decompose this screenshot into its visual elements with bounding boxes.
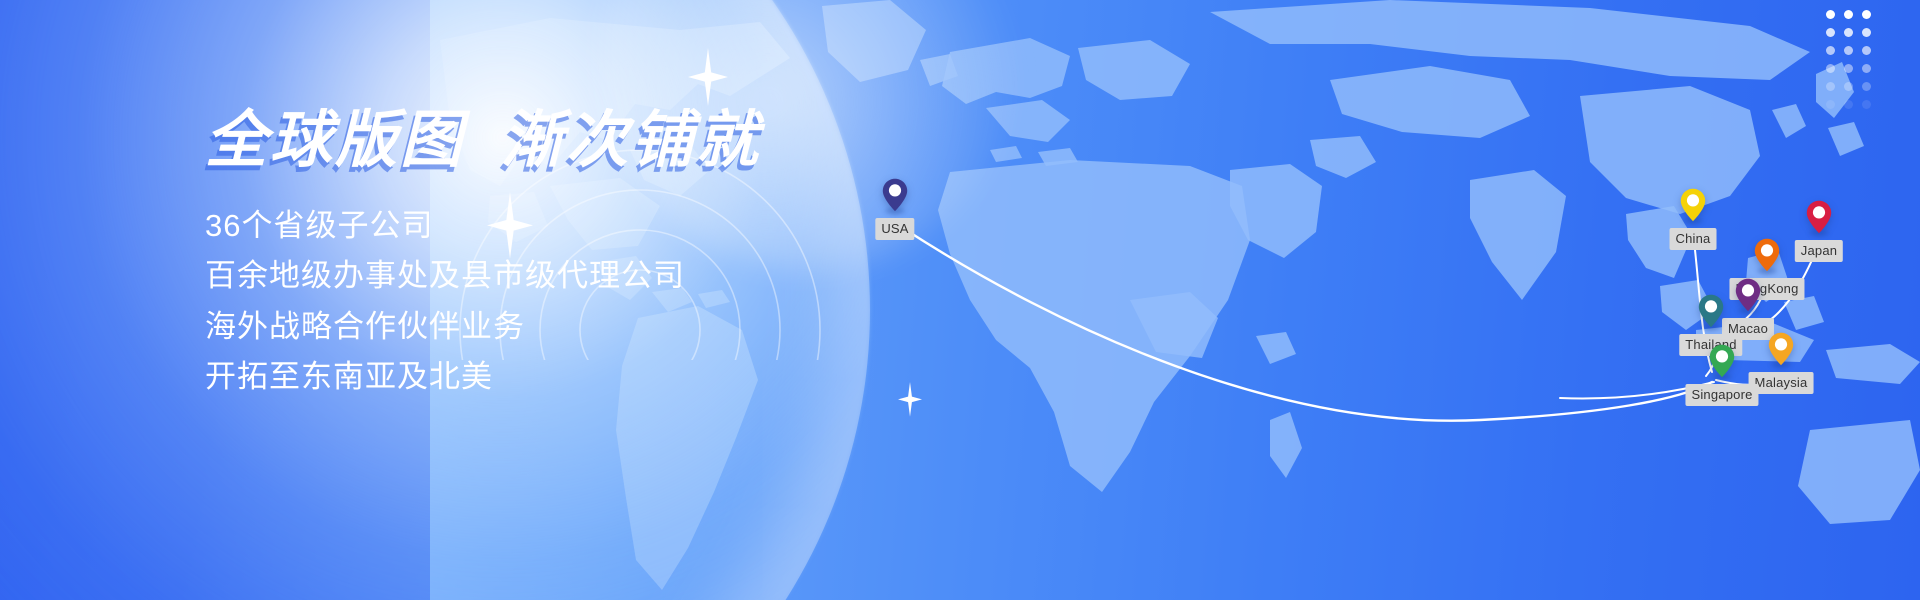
grid-dot	[1826, 82, 1835, 91]
subtitle-list: 36个省级子公司百余地级办事处及县市级代理公司海外战略合作伙伴业务开拓至东南亚及…	[205, 201, 761, 402]
grid-dot	[1826, 100, 1835, 109]
copy-block: 全球版图渐次铺就 36个省级子公司百余地级办事处及县市级代理公司海外战略合作伙伴…	[205, 108, 761, 402]
grid-dot	[1862, 10, 1871, 19]
map-marker-label: Singapore	[1685, 384, 1758, 406]
grid-dot	[1862, 100, 1871, 109]
location-pin-icon[interactable]	[1806, 200, 1832, 234]
grid-dot	[1862, 82, 1871, 91]
location-pin-icon[interactable]	[1698, 294, 1724, 328]
subtitle-line: 开拓至东南亚及北美	[205, 352, 761, 402]
grid-dot	[1862, 28, 1871, 37]
location-pin-icon[interactable]	[1709, 344, 1735, 378]
subtitle-line: 海外战略合作伙伴业务	[205, 302, 761, 352]
location-pin-icon[interactable]	[882, 178, 908, 212]
grid-dot	[1844, 46, 1853, 55]
map-marker-label: Japan	[1795, 240, 1843, 262]
grid-dot	[1826, 64, 1835, 73]
subtitle-line: 百余地级办事处及县市级代理公司	[205, 251, 761, 301]
map-marker-label: China	[1670, 228, 1717, 250]
route-usa-asia	[903, 228, 1712, 421]
map-marker-label: USA	[875, 218, 914, 240]
headline-left: 全球版图	[205, 106, 465, 175]
location-pin-icon[interactable]	[1768, 332, 1794, 366]
grid-dot	[1844, 28, 1853, 37]
subtitle-line: 36个省级子公司	[205, 201, 761, 251]
global-map-banner: 全球版图渐次铺就 36个省级子公司百余地级办事处及县市级代理公司海外战略合作伙伴…	[0, 0, 1920, 600]
grid-dot	[1826, 46, 1835, 55]
grid-dot	[1844, 82, 1853, 91]
dot-grid-decoration	[1826, 10, 1886, 120]
grid-dot	[1826, 10, 1835, 19]
grid-dot	[1862, 46, 1871, 55]
page-title: 全球版图渐次铺就	[205, 108, 761, 173]
grid-dot	[1844, 10, 1853, 19]
grid-dot	[1844, 100, 1853, 109]
headline-right: 渐次铺就	[501, 106, 761, 175]
location-pin-icon[interactable]	[1735, 278, 1761, 312]
location-pin-icon[interactable]	[1754, 238, 1780, 272]
grid-dot	[1844, 64, 1853, 73]
location-pin-icon[interactable]	[1680, 188, 1706, 222]
grid-dot	[1826, 28, 1835, 37]
grid-dot	[1862, 64, 1871, 73]
